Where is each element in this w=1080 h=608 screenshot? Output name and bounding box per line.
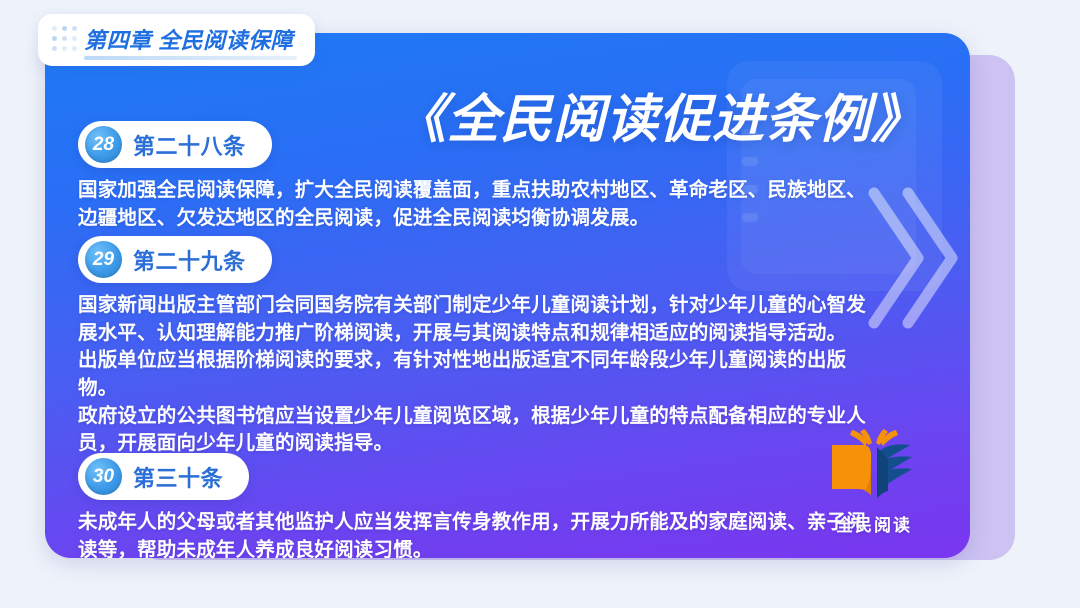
article-number-badge: 29 — [85, 241, 122, 278]
poster-canvas: 《全民阅读促进条例》 28 第二十八条 国家加强全民阅读保障，扩大全民阅读覆盖面… — [0, 0, 1080, 608]
article-body: 国家新闻出版主管部门会同国务院有关部门制定少年儿童阅读计划，针对少年儿童的心智发… — [78, 292, 878, 458]
chapter-tab-underline — [84, 56, 297, 60]
article-heading-label: 第二十九条 — [133, 244, 246, 276]
article-paragraph: 政府设立的公共图书馆应当设置少年儿童阅览区域，根据少年儿童的特点配备相应的专业人… — [78, 403, 878, 458]
article-number-badge: 28 — [85, 126, 122, 163]
main-content-card: 《全民阅读促进条例》 28 第二十八条 国家加强全民阅读保障，扩大全民阅读覆盖面… — [45, 33, 970, 558]
article-heading-pill[interactable]: 30 第三十条 — [78, 453, 249, 500]
article-item: 30 第三十条 未成年人的父母或者其他监护人应当发挥言传身教作用，开展力所能及的… — [78, 453, 878, 558]
article-heading-label: 第二十八条 — [133, 129, 246, 161]
logo-caption: 全民阅读 — [822, 511, 926, 536]
article-body: 国家加强全民阅读保障，扩大全民阅读覆盖面，重点扶助农村地区、革命老区、民族地区、… — [78, 177, 878, 232]
article-heading-label: 第三十条 — [133, 461, 223, 493]
page-title: 《全民阅读促进条例》 — [394, 77, 924, 152]
article-number-badge: 30 — [85, 458, 122, 495]
article-heading-pill[interactable]: 28 第二十八条 — [78, 121, 272, 168]
chapter-tab[interactable]: 第四章 全民阅读保障 — [38, 14, 315, 66]
article-paragraph: 国家加强全民阅读保障，扩大全民阅读覆盖面，重点扶助农村地区、革命老区、民族地区、… — [78, 177, 878, 232]
article-body: 未成年人的父母或者其他监护人应当发挥言传身教作用，开展力所能及的家庭阅读、亲子阅… — [78, 509, 878, 558]
dot-grid-decoration-icon — [52, 26, 78, 56]
article-heading-pill[interactable]: 29 第二十九条 — [78, 236, 272, 283]
chapter-tab-label: 第四章 全民阅读保障 — [84, 23, 293, 55]
article-paragraph: 未成年人的父母或者其他监护人应当发挥言传身教作用，开展力所能及的家庭阅读、亲子阅… — [78, 509, 878, 558]
article-paragraph: 出版单位应当根据阶梯阅读的要求，有针对性地出版适宜不同年龄段少年儿童阅读的出版物… — [78, 347, 878, 402]
article-item: 29 第二十九条 国家新闻出版主管部门会同国务院有关部门制定少年儿童阅读计划，针… — [78, 236, 878, 458]
reading-program-logo: 全民阅读 — [822, 429, 926, 536]
article-paragraph: 国家新闻出版主管部门会同国务院有关部门制定少年儿童阅读计划，针对少年儿童的心智发… — [78, 292, 878, 347]
open-book-icon — [822, 429, 926, 507]
